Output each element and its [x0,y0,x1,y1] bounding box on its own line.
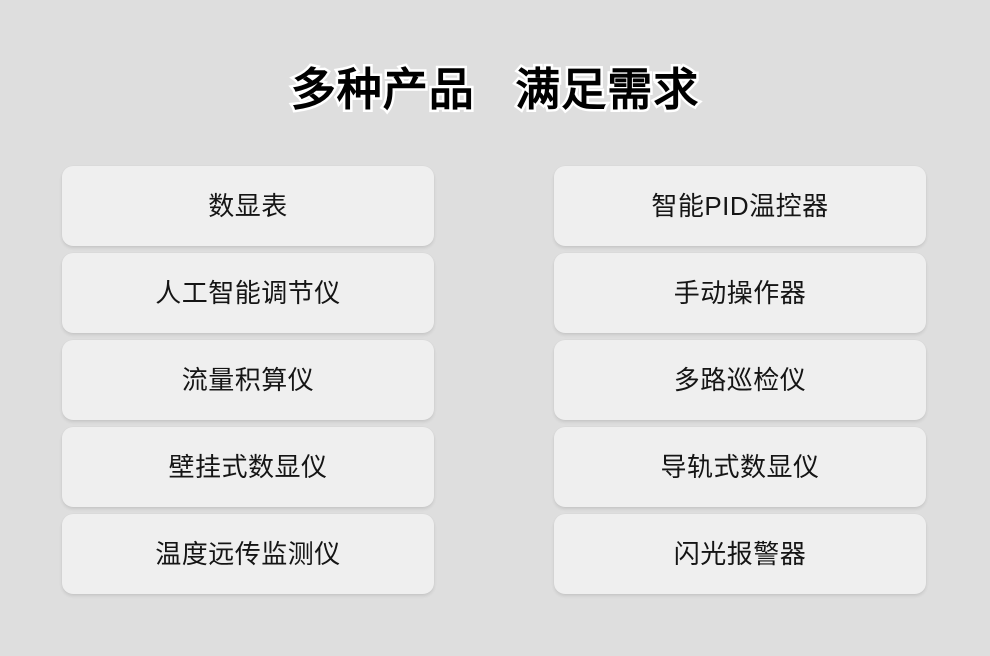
product-card[interactable]: 流量积算仪 [62,340,434,420]
product-card[interactable]: 壁挂式数显仪 [62,427,434,507]
product-card-label: 导轨式数显仪 [660,452,819,482]
product-card-label: 数显表 [208,191,288,221]
product-card-label: 多路巡检仪 [674,365,807,395]
product-card[interactable]: 人工智能调节仪 [62,253,434,333]
product-card-grid: 数显表 智能PID温控器 人工智能调节仪 手动操作器 流量积算仪 多路巡检仪 壁… [62,166,928,594]
product-list-page: 多种产品 满足需求 数显表 智能PID温控器 人工智能调节仪 手动操作器 流量积… [0,0,990,656]
product-card-label: 闪光报警器 [674,539,807,569]
product-card[interactable]: 导轨式数显仪 [554,427,926,507]
product-card-label: 壁挂式数显仪 [168,452,327,482]
product-card[interactable]: 智能PID温控器 [554,166,926,246]
product-card-label: 智能PID温控器 [651,191,828,221]
product-card[interactable]: 温度远传监测仪 [62,514,434,594]
page-title: 多种产品 满足需求 [0,62,990,118]
product-card[interactable]: 多路巡检仪 [554,340,926,420]
product-card[interactable]: 手动操作器 [554,253,926,333]
product-card-label: 温度远传监测仪 [155,539,341,569]
product-card[interactable]: 闪光报警器 [554,514,926,594]
product-card-label: 流量积算仪 [182,365,315,395]
product-card-label: 人工智能调节仪 [155,278,341,308]
product-card[interactable]: 数显表 [62,166,434,246]
product-card-label: 手动操作器 [674,278,807,308]
